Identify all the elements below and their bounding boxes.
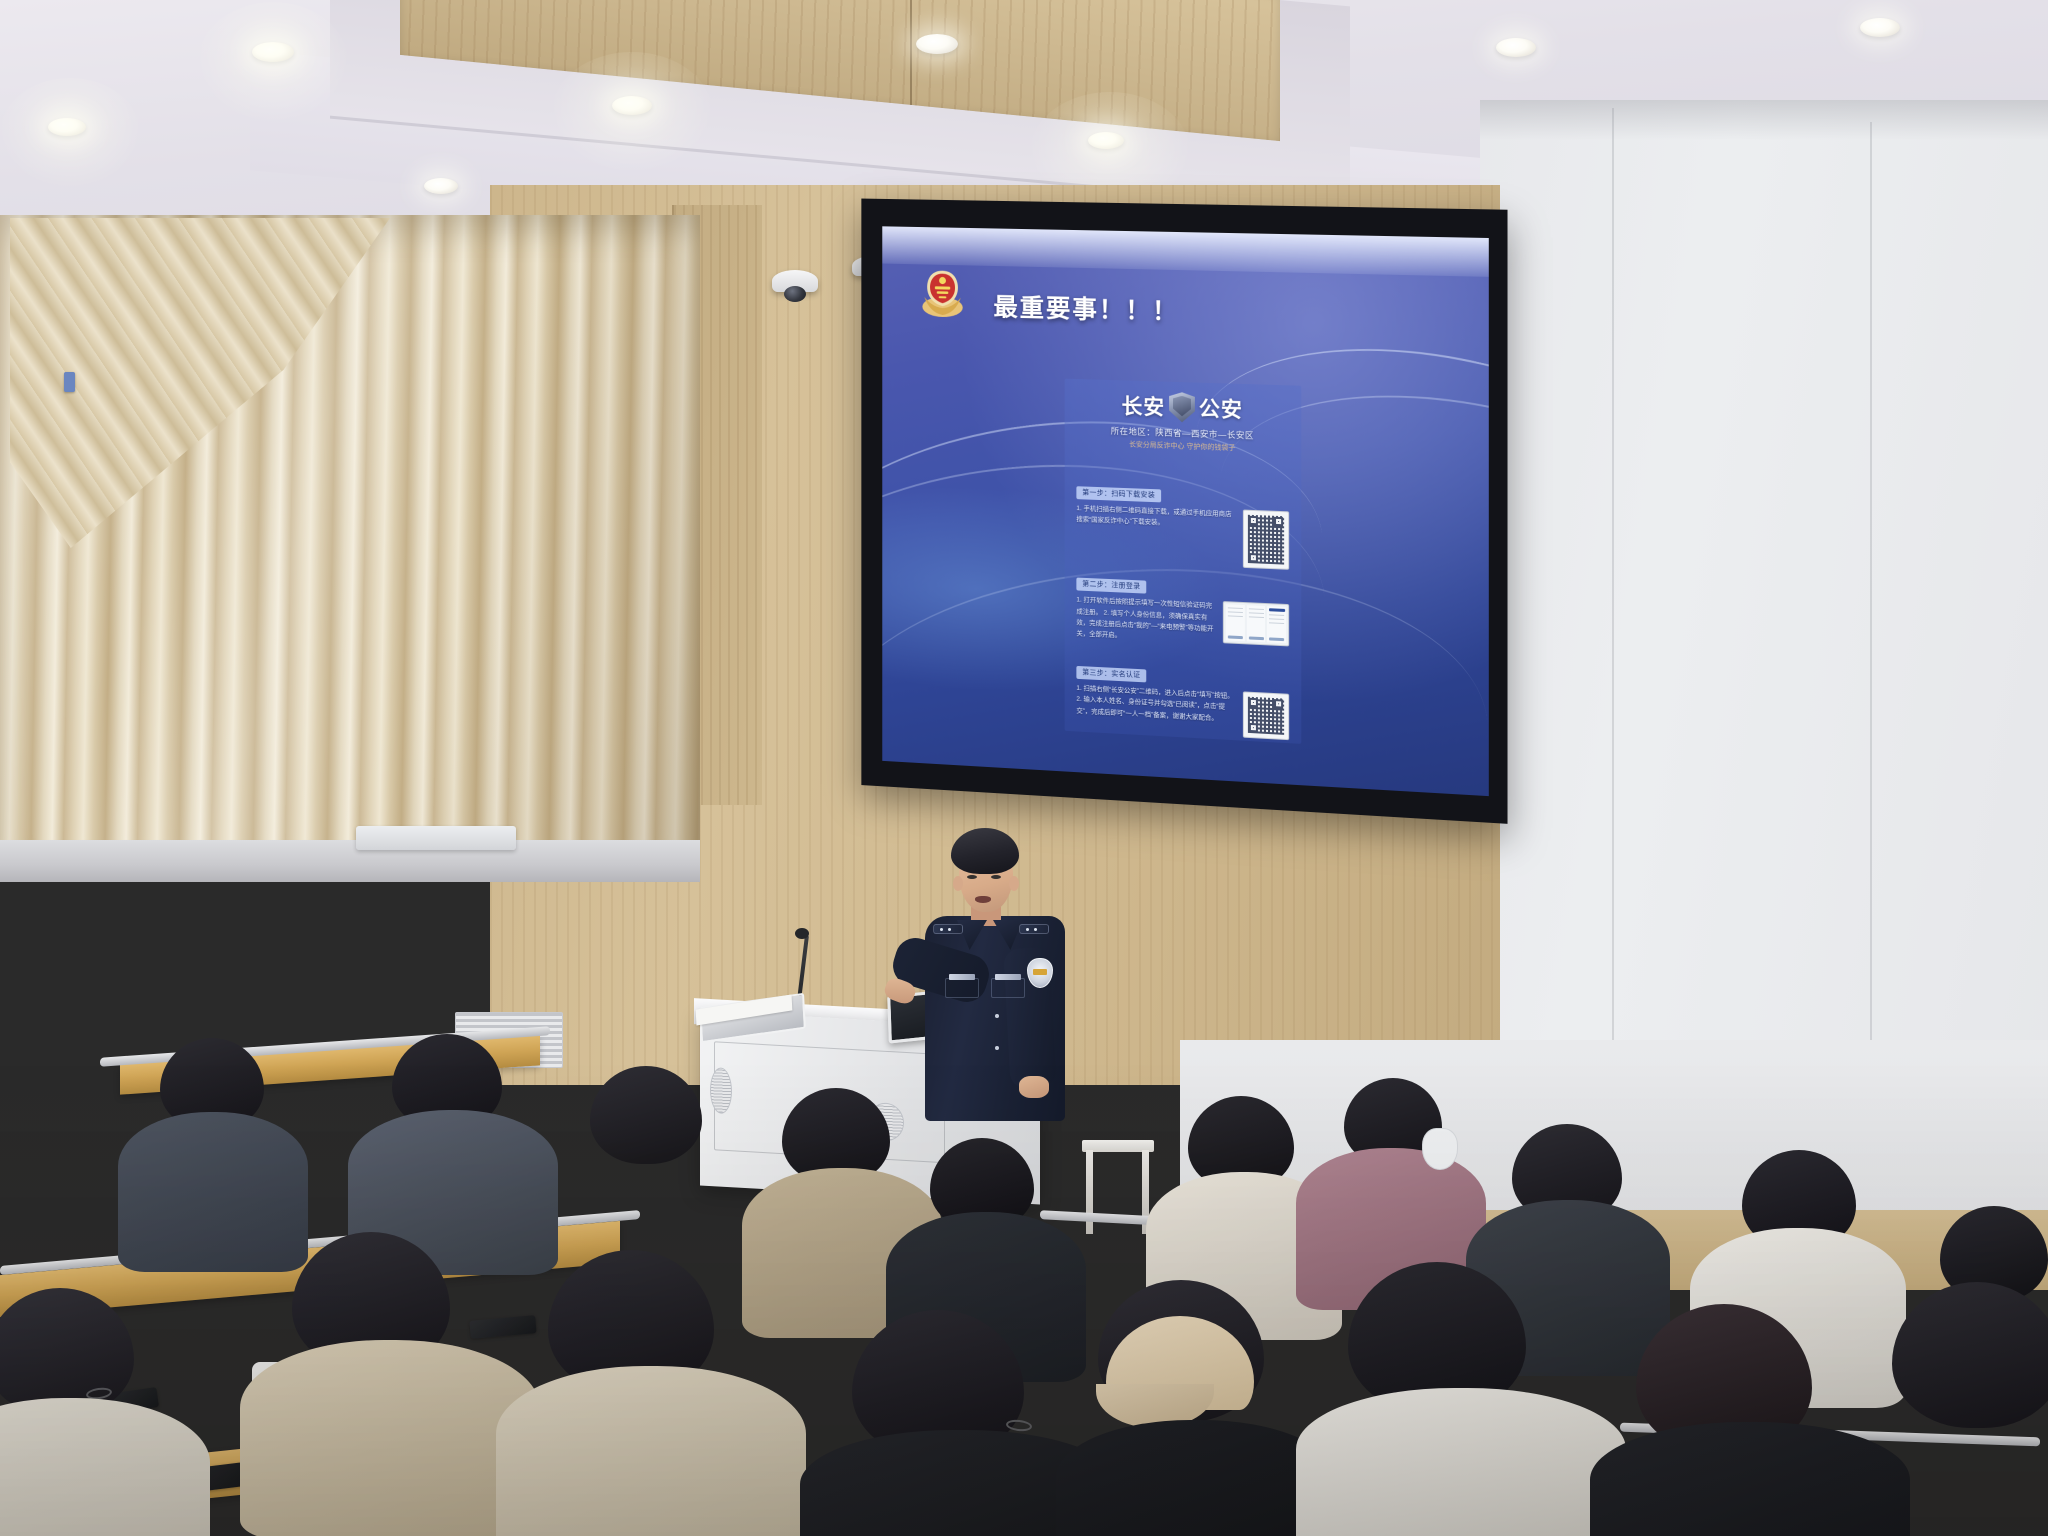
audience-body-foreground [1590, 1422, 1910, 1536]
projection-screen: 最重要事！！！ 长安 公安 所在地区：陕西省—西安市—长安区 长安分局反诈中心 … [861, 199, 1507, 824]
slide-title: 最重要事！！！ [994, 288, 1179, 328]
qr-eye-bl-1 [1249, 553, 1258, 562]
curtain-clip [64, 372, 75, 392]
qr-grid-3 [1248, 697, 1284, 735]
police-officer-speaker [915, 828, 1075, 1128]
face-mask [1422, 1128, 1458, 1170]
projected-slide: 最重要事！！！ 长安 公安 所在地区：陕西省—西安市—长安区 长安分局反诈中心 … [882, 226, 1489, 796]
audience-head-foreground [1892, 1282, 2048, 1428]
phone-line [1249, 617, 1264, 619]
downlight-3 [424, 178, 458, 194]
officer-chest-pocket-right [991, 978, 1025, 998]
police-shield-icon [1169, 392, 1195, 423]
screen-top-glare [882, 226, 1489, 277]
officer-chest-pocket-left [945, 978, 979, 998]
wall-seam-1 [1612, 108, 1614, 1068]
step-3-text: 1. 扫描右侧“长安公安”二维码，进入后点击“填写”按钮。 2. 输入本人姓名、… [1076, 683, 1237, 726]
wall-seam-2 [1870, 122, 1872, 1062]
phone-submit-button [1228, 636, 1243, 640]
shoulder-board-left [933, 924, 963, 934]
downlight-2 [252, 42, 294, 62]
qr-eye-bl-3 [1249, 723, 1258, 733]
slide-content-card: 长安 公安 所在地区：陕西省—西安市—长安区 长安分局反诈中心 守护你的钱袋子 … [1065, 379, 1302, 744]
slide-step-1: 第一步：扫码下载安装 1. 手机扫描右侧二维码直接下载，或通过手机应用商店搜索“… [1076, 481, 1289, 570]
brand-logo-row: 长安 公安 [1065, 389, 1302, 427]
brand-text-right: 公安 [1199, 393, 1243, 424]
rank-star [1034, 928, 1037, 931]
audience-body-foreground [496, 1366, 806, 1536]
downlight-8 [1860, 18, 1900, 37]
step-1-qr-code [1243, 510, 1289, 570]
qr-eye-tl-3 [1249, 698, 1258, 708]
step-1-tag: 第一步：扫码下载安装 [1076, 486, 1161, 502]
step-1-text: 1. 手机扫描右侧二维码直接下载，或通过手机应用商店搜索“国家反诈中心”下载安装… [1076, 503, 1237, 532]
step-2-tag: 第二步：注册登录 [1076, 577, 1146, 593]
wall-white-right [1480, 100, 2048, 1100]
audience-body-foreground [0, 1398, 210, 1536]
phone-screenshot-2 [1247, 606, 1266, 643]
window-sill [0, 840, 700, 882]
phone-line [1228, 612, 1243, 614]
officer-eye-right [991, 875, 1001, 879]
lecture-hall-photo: 最重要事！！！ 长安 公安 所在地区：陕西省—西安市—长安区 长安分局反诈中心 … [0, 0, 2048, 1536]
downlight-6 [1088, 132, 1124, 149]
phone-submit-button [1269, 638, 1284, 642]
rank-star [948, 928, 951, 931]
downlight-1 [48, 118, 86, 136]
officer-uniform-button [995, 1046, 999, 1050]
officer-ear-right [1009, 876, 1019, 891]
qr-eye-tl-1 [1249, 516, 1258, 525]
brand-text-left: 长安 [1122, 390, 1166, 421]
rank-star [940, 928, 943, 931]
officer-hand-right [1019, 1076, 1049, 1098]
chest-name-bar-left [949, 974, 975, 980]
phone-line [1269, 615, 1284, 617]
officer-ear-left [953, 876, 963, 891]
wall-top-shadow [1480, 100, 2048, 140]
audience-body-foreground [1056, 1420, 1336, 1536]
china-police-emblem-icon [920, 267, 964, 319]
phone-line [1249, 609, 1264, 611]
phone-submit-button [1249, 637, 1264, 641]
rank-star [1026, 928, 1029, 931]
officer-eye-left [967, 875, 977, 879]
officer-mouth [975, 896, 991, 903]
downlight-4 [612, 96, 652, 115]
officer-uniform-button [995, 1014, 999, 1018]
audience-body-foreground [240, 1340, 540, 1536]
window-ledge-device [356, 826, 516, 850]
slide-step-3: 第三步：实名认证 1. 扫描右侧“长安公安”二维码，进入后点击“填写”按钮。 2… [1076, 661, 1289, 740]
audience-head-foreground [0, 1288, 134, 1416]
phone-screenshot-3 [1267, 606, 1286, 643]
audience-body [118, 1112, 308, 1272]
step-2-body: 1. 打开软件后按照提示填写一次性短信验证码完成注册。 2. 填写个人身份信息，… [1076, 595, 1289, 651]
downlight-5 [916, 34, 958, 54]
qr-eye-tr-1 [1274, 517, 1283, 526]
officer-hair [951, 828, 1019, 874]
qr-grid-1 [1248, 515, 1284, 565]
slide-step-2: 第二步：注册登录 1. 打开软件后按照提示填写一次性短信验证码完成注册。 2. … [1076, 573, 1289, 650]
phone-line [1228, 616, 1243, 618]
shoulder-board-right [1019, 924, 1049, 934]
chest-name-bar-right [995, 974, 1021, 980]
step-3-tag: 第三步：实名认证 [1076, 665, 1146, 682]
step-1-body: 1. 手机扫描右侧二维码直接下载，或通过手机应用商店搜索“国家反诈中心”下载安装… [1076, 503, 1289, 570]
ceiling-wood-seam [910, 0, 912, 105]
downlight-7 [1496, 38, 1536, 57]
smartphone-on-desk-2 [469, 1315, 536, 1339]
audience-head [590, 1066, 702, 1164]
step-2-phone-screenshots [1223, 601, 1289, 646]
dome-camera-left-icon [784, 286, 806, 302]
audience-body-foreground [1296, 1388, 1626, 1536]
phone-line [1249, 613, 1264, 615]
step-2-text: 1. 打开软件后按照提示填写一次性短信验证码完成注册。 2. 填写个人身份信息，… [1076, 595, 1217, 647]
qr-eye-tr-3 [1274, 699, 1283, 709]
phone-screenshot-1 [1226, 605, 1245, 642]
phone-line [1269, 623, 1284, 625]
podium-speaker-left [710, 1067, 732, 1114]
step-3-body: 1. 扫描右侧“长安公安”二维码，进入后点击“填写”按钮。 2. 输入本人姓名、… [1076, 683, 1289, 740]
phone-line [1228, 608, 1243, 610]
step-3-qr-code [1243, 691, 1289, 740]
microphone-head-icon [795, 928, 809, 939]
phone-line [1269, 619, 1284, 621]
